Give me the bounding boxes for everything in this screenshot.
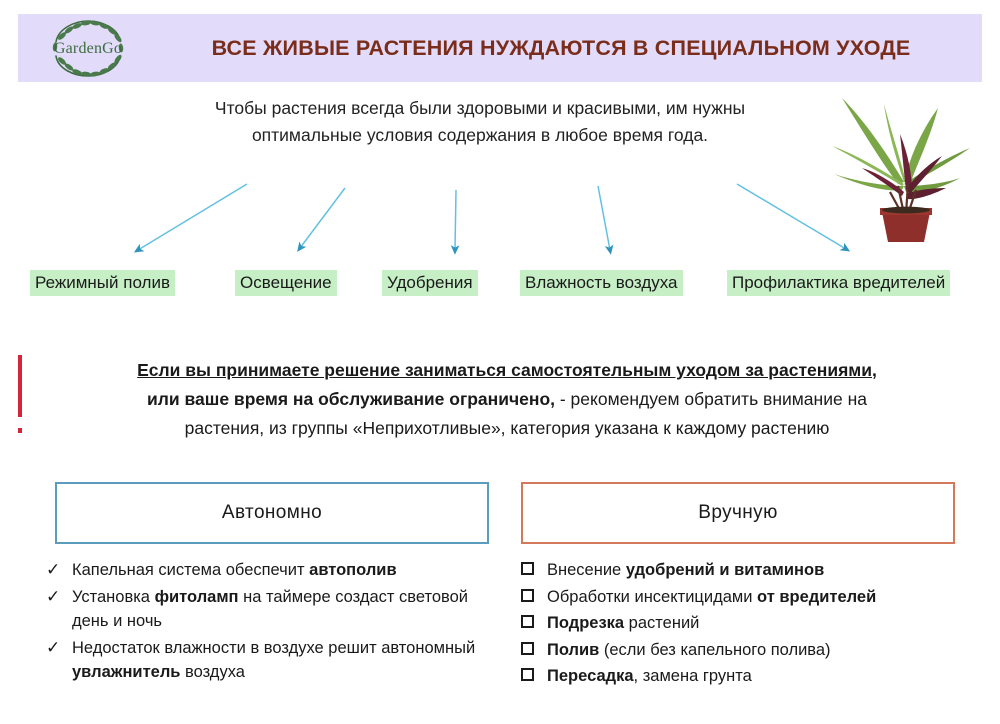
list-item[interactable]: Пересадка, замена грунта: [521, 664, 983, 689]
checkbox-icon[interactable]: [521, 638, 547, 663]
list-item-bold: Полив: [547, 641, 599, 659]
list-item-bold: Пересадка: [547, 667, 634, 685]
list-item-text: Внесение удобрений и витаминов: [547, 558, 983, 583]
check-icon: ✓: [46, 558, 72, 583]
list-item-pre: Капельная система обеспечит: [72, 561, 309, 579]
page-title: ВСЕ ЖИВЫЕ РАСТЕНИЯ НУЖДАЮТСЯ В СПЕЦИАЛЬН…: [158, 36, 982, 61]
arrow-to-fertilizer: [455, 190, 456, 250]
quote-accent-bar: [18, 355, 22, 417]
list-item-text: Пересадка, замена грунта: [547, 664, 983, 689]
list-item-pre: Внесение: [547, 561, 626, 579]
care-label-pest-control[interactable]: Профилактика вредителей: [727, 270, 950, 296]
list-item-text: Недостаток влажности в воздухе решит авт…: [72, 636, 508, 685]
check-icon: ✓: [46, 585, 72, 610]
list-item[interactable]: Полив (если без капельного полива): [521, 638, 983, 663]
list-item[interactable]: ✓ Недостаток влажности в воздухе решит а…: [46, 636, 508, 685]
arrow-to-humidity: [598, 186, 610, 250]
check-icon: ✓: [46, 636, 72, 661]
arrow-to-lighting: [300, 188, 345, 248]
column-heading-autonomous[interactable]: Автономно: [55, 482, 489, 544]
plant-photo: [818, 86, 988, 246]
column-heading-autonomous-label: Автономно: [222, 502, 322, 524]
brand-logo[interactable]: GardenGo: [18, 14, 158, 82]
list-item[interactable]: Обработки инсектицидами от вредителей: [521, 585, 983, 610]
intro-line-2: оптимальные условия содержания в любое в…: [150, 122, 810, 149]
autonomous-list: ✓ Капельная система обеспечит автополив …: [46, 558, 508, 687]
list-item-text: Обработки инсектицидами от вредителей: [547, 585, 983, 610]
list-item[interactable]: ✓ Капельная система обеспечит автополив: [46, 558, 508, 583]
list-item-post: воздуха: [180, 663, 244, 681]
manual-list: Внесение удобрений и витаминов Обработки…: [521, 558, 983, 691]
checkbox-icon[interactable]: [521, 611, 547, 636]
checkbox-icon[interactable]: [521, 558, 547, 583]
list-item[interactable]: Внесение удобрений и витаминов: [521, 558, 983, 583]
list-item[interactable]: ✓ Установка фитоламп на таймере создаст …: [46, 585, 508, 634]
list-item-text: Установка фитоламп на таймере создаст св…: [72, 585, 508, 634]
intro-paragraph: Чтобы растения всегда были здоровыми и к…: [150, 95, 810, 149]
quote-line-2-rest: - рекомендуем обратить внимание на: [555, 389, 867, 409]
list-item-bold: автополив: [309, 561, 396, 579]
quote-line-3: растения, из группы «Неприхотливые», кат…: [34, 414, 980, 443]
list-item-text: Подрезка растений: [547, 611, 983, 636]
list-item-bold: от вредителей: [757, 588, 876, 606]
quote-line-2-bold: или ваше время на обслуживание ограничен…: [147, 389, 555, 409]
brand-name: GardenGo: [54, 40, 122, 57]
checkbox-icon[interactable]: [521, 664, 547, 689]
list-item-post: , замена грунта: [634, 667, 752, 685]
checkbox-icon[interactable]: [521, 585, 547, 610]
quote-accent-dot: [18, 428, 22, 433]
quote-line-1: Если вы принимаете решение заниматься са…: [137, 360, 877, 380]
list-item-bold: Подрезка: [547, 614, 624, 632]
care-label-fertilizer[interactable]: Удобрения: [382, 270, 478, 296]
intro-line-1: Чтобы растения всегда были здоровыми и к…: [150, 95, 810, 122]
list-item-pre: Недостаток влажности в воздухе решит авт…: [72, 639, 475, 657]
care-label-watering[interactable]: Режимный полив: [30, 270, 175, 296]
list-item-pre: Установка: [72, 588, 155, 606]
care-label-humidity[interactable]: Влажность воздуха: [520, 270, 683, 296]
list-item-bold: увлажнитель: [72, 663, 180, 681]
column-heading-manual[interactable]: Вручную: [521, 482, 955, 544]
list-item-text: Капельная система обеспечит автополив: [72, 558, 508, 583]
list-item-post: растений: [624, 614, 699, 632]
care-labels-row: Режимный полив Освещение Удобрения Влажн…: [30, 270, 985, 296]
header-band: GardenGo ВСЕ ЖИВЫЕ РАСТЕНИЯ НУЖДАЮТСЯ В …: [18, 14, 982, 82]
laurel-wreath-icon: GardenGo: [28, 16, 148, 80]
column-heading-manual-label: Вручную: [698, 502, 777, 524]
list-item-post: (если без капельного полива): [599, 641, 830, 659]
list-item-pre: Обработки инсектицидами: [547, 588, 757, 606]
arrow-to-watering: [138, 184, 247, 250]
care-label-lighting[interactable]: Освещение: [235, 270, 337, 296]
quote-block: Если вы принимаете решение заниматься са…: [34, 356, 980, 443]
list-item-text: Полив (если без капельного полива): [547, 638, 983, 663]
list-item-bold: удобрений и витаминов: [626, 561, 824, 579]
list-item[interactable]: Подрезка растений: [521, 611, 983, 636]
calathea-plant-image: [818, 86, 988, 246]
list-item-bold: фитоламп: [155, 588, 239, 606]
